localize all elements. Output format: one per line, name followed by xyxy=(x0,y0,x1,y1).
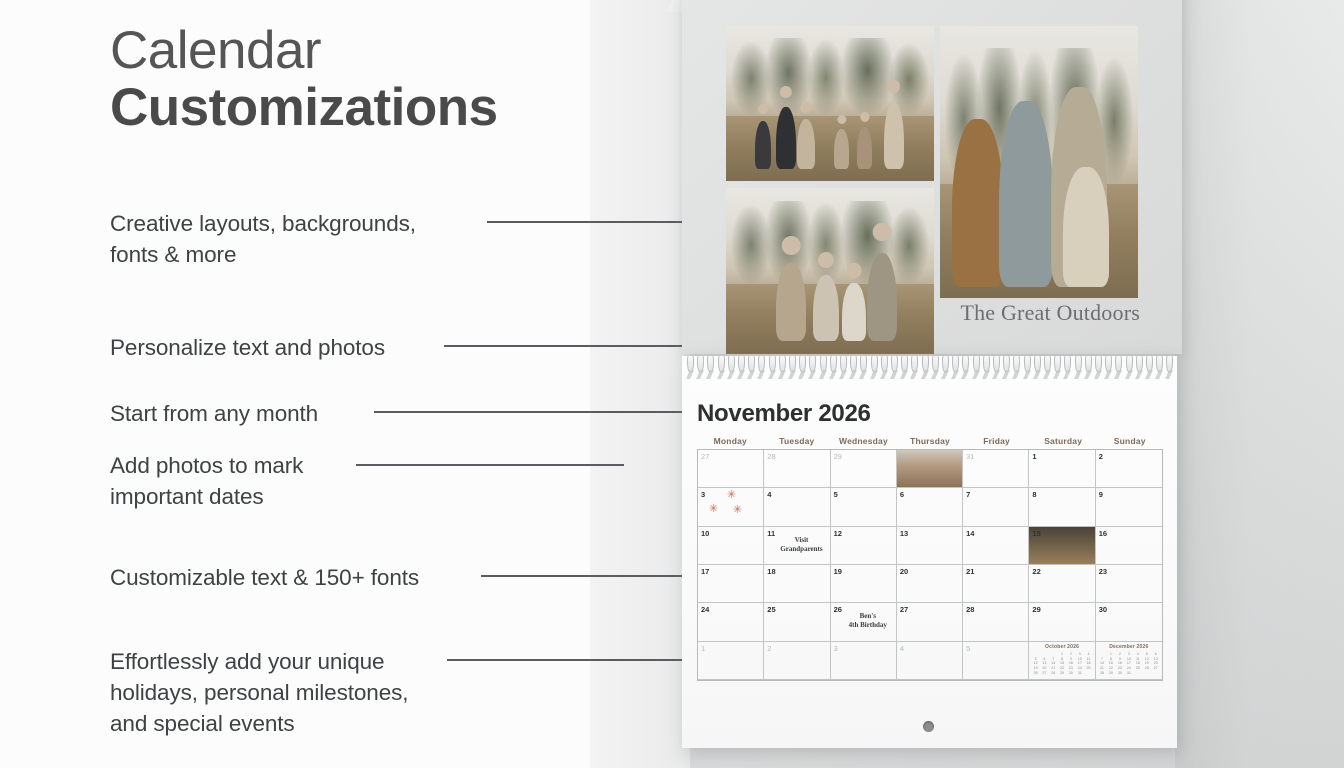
calendar-day-cell[interactable]: 29 xyxy=(1029,603,1095,641)
weekday-label-tuesday: Tuesday xyxy=(764,436,831,446)
calendar-day-cell[interactable]: 8 xyxy=(1029,488,1095,526)
mini-calendar-day: 23 xyxy=(1067,666,1075,670)
calendar-cover-page[interactable]: The Great Outdoors xyxy=(682,0,1182,354)
mini-calendar-day: 2 xyxy=(1116,652,1124,656)
spiral-loop-tail xyxy=(839,370,847,379)
calendar-day-cell[interactable]: 27 xyxy=(897,603,963,641)
spiral-loop-tail xyxy=(1033,370,1041,379)
mini-calendar-day: 31 xyxy=(1125,671,1133,675)
day-number: 1 xyxy=(1032,452,1036,461)
mini-calendar-day xyxy=(1031,652,1039,656)
calendar-day-cell[interactable]: 14 xyxy=(963,527,1029,565)
mini-calendar-day: 22 xyxy=(1058,666,1066,670)
photo-figure xyxy=(999,101,1053,287)
mini-calendar-day: 25 xyxy=(1084,666,1092,670)
mini-calendar-day: 29 xyxy=(1058,671,1066,675)
calendar-day-cell[interactable]: 4 xyxy=(897,642,963,680)
photo-figure xyxy=(776,263,806,341)
feature-item-personalize-text: Personalize text and photos xyxy=(110,332,385,363)
day-number: 25 xyxy=(767,605,775,614)
calendar-day-cell[interactable]: 1 xyxy=(698,642,764,680)
mini-calendar-day: 26 xyxy=(1143,666,1151,670)
mini-calendar-day: 15 xyxy=(1107,661,1115,665)
weekday-label-sunday: Sunday xyxy=(1096,436,1163,446)
feature-item-creative-layouts: Creative layouts, backgrounds, fonts & m… xyxy=(110,208,416,270)
photo-trees xyxy=(726,38,934,128)
mini-calendar-day xyxy=(1049,652,1057,656)
mini-calendar-day: 27 xyxy=(1152,666,1160,670)
mini-calendar-day: 12 xyxy=(1031,661,1039,665)
connector-line-start-any-month xyxy=(374,411,692,413)
photo-figure xyxy=(834,129,849,169)
day-number: 3 xyxy=(701,490,705,499)
photo-figure xyxy=(884,103,904,169)
spiral-loop-tail xyxy=(900,370,908,379)
calendar-day-cell[interactable]: 28 xyxy=(764,450,830,488)
mini-calendar-day: 18 xyxy=(1084,661,1092,665)
calendar-day-cell[interactable]: 27 xyxy=(698,450,764,488)
calendar-day-cell[interactable]: 24 xyxy=(698,603,764,641)
calendar-day-cell[interactable]: 15 xyxy=(1029,527,1095,565)
spiral-loop-tail xyxy=(1002,370,1010,379)
day-number: 24 xyxy=(701,605,709,614)
mini-calendar-day: 5 xyxy=(1031,657,1039,661)
day-number: 4 xyxy=(900,644,904,653)
mini-calendar-day: 20 xyxy=(1040,666,1048,670)
mini-calendar-day: 6 xyxy=(1152,652,1160,656)
mini-calendar-day: 20 xyxy=(1152,661,1160,665)
spiral-loop-tail xyxy=(1053,370,1061,379)
weekday-label-wednesday: Wednesday xyxy=(830,436,897,446)
mini-calendar-day: 17 xyxy=(1076,661,1084,665)
spiral-loop-tail xyxy=(1104,370,1112,379)
day-number: 6 xyxy=(900,490,904,499)
mini-calendar-day: 30 xyxy=(1116,671,1124,675)
mini-calendar-day: 13 xyxy=(1040,661,1048,665)
day-number: 30 xyxy=(900,452,908,461)
mini-calendar-day: 24 xyxy=(1125,666,1133,670)
calendar-day-cell[interactable]: 17 xyxy=(698,565,764,603)
mini-calendar-day xyxy=(1084,671,1092,675)
calendar-day-cell[interactable]: 13 xyxy=(897,527,963,565)
calendar-day-cell[interactable]: 18 xyxy=(764,565,830,603)
calendar-day-grid[interactable]: 2728293031123✳✳✳4567891011Visit Grandpar… xyxy=(697,449,1163,681)
spiral-loop-tail xyxy=(1125,370,1133,379)
spiral-loop-tail xyxy=(951,370,959,379)
day-number: 10 xyxy=(701,529,709,538)
mini-calendar-next: December 2026123456789101112131415161718… xyxy=(1098,643,1160,678)
spiral-loop-tail xyxy=(972,370,980,379)
mini-calendar-day: 8 xyxy=(1058,657,1066,661)
mini-calendar-day xyxy=(1143,671,1151,675)
mini-calendar-day: 12 xyxy=(1143,657,1151,661)
calendar-day-cell[interactable]: October 20261234567891011121314151617181… xyxy=(1029,642,1095,680)
day-number: 29 xyxy=(834,452,842,461)
photo-figure xyxy=(797,119,815,169)
mini-calendar-day: 28 xyxy=(1098,671,1106,675)
calendar-day-cell[interactable]: 30 xyxy=(1096,603,1162,641)
calendar-day-cell[interactable]: 11Visit Grandparents xyxy=(764,527,830,565)
mini-calendar-day xyxy=(1134,671,1142,675)
mini-calendar-day: 7 xyxy=(1098,657,1106,661)
mini-calendar-day: 28 xyxy=(1049,671,1057,675)
mini-calendar-day: 11 xyxy=(1084,657,1092,661)
mini-calendar-day: 1 xyxy=(1058,652,1066,656)
calendar-month-title[interactable]: November 2026 xyxy=(697,400,871,428)
spiral-loop-tail xyxy=(890,370,898,379)
mini-calendar-day: 7 xyxy=(1049,657,1057,661)
mini-calendar-day: 11 xyxy=(1134,657,1142,661)
spiral-loop-tail xyxy=(1084,370,1092,379)
day-number: 31 xyxy=(966,452,974,461)
mini-calendar-day: 2 xyxy=(1067,652,1075,656)
spiral-loop-tail xyxy=(737,370,745,379)
calendar-day-cell[interactable]: 29 xyxy=(831,450,897,488)
mini-calendar-grid: 1234567891011121314151617181920212223242… xyxy=(1031,652,1092,676)
day-number: 1 xyxy=(701,644,705,653)
spiral-loop-tail xyxy=(982,370,990,379)
mini-calendar-day: 21 xyxy=(1049,666,1057,670)
day-number: 2 xyxy=(1099,452,1103,461)
mini-calendar-day: 18 xyxy=(1134,661,1142,665)
mini-calendar-title: December 2026 xyxy=(1098,644,1160,650)
collage-photo-kids-hug[interactable] xyxy=(726,188,934,354)
spiral-loop-tail xyxy=(931,370,939,379)
calendar-day-cell[interactable]: 9 xyxy=(1096,488,1162,526)
spiral-loop-tail xyxy=(1094,370,1102,379)
mini-calendar-day: 19 xyxy=(1143,661,1151,665)
spiral-loop-tail xyxy=(798,370,806,379)
spiral-loop-tail xyxy=(880,370,888,379)
feature-item-add-photos: Add photos to mark important dates xyxy=(110,450,303,512)
day-number: 21 xyxy=(966,567,974,576)
wall-shadow xyxy=(1175,0,1344,768)
spiral-loop-tail xyxy=(778,370,786,379)
feature-item-start-any-month: Start from any month xyxy=(110,398,318,429)
spiral-loop-tail xyxy=(829,370,837,379)
spiral-loop-tail xyxy=(1145,370,1153,379)
mini-calendar-day xyxy=(1040,652,1048,656)
day-number: 18 xyxy=(767,567,775,576)
mini-calendar-day: 13 xyxy=(1152,657,1160,661)
day-number: 8 xyxy=(1032,490,1036,499)
day-number: 28 xyxy=(767,452,775,461)
weekday-label-saturday: Saturday xyxy=(1030,436,1097,446)
calendar-day-cell[interactable]: 23 xyxy=(1096,565,1162,603)
day-number: 27 xyxy=(701,452,709,461)
mini-calendar-day: 21 xyxy=(1098,666,1106,670)
mini-calendar-day: 27 xyxy=(1040,671,1048,675)
day-number: 22 xyxy=(1032,567,1040,576)
mini-calendar-day: 23 xyxy=(1116,666,1124,670)
day-number: 27 xyxy=(900,605,908,614)
hole-punch xyxy=(923,721,934,732)
mini-calendar-day: 3 xyxy=(1125,652,1133,656)
day-event-note[interactable]: Visit Grandparents xyxy=(776,536,827,554)
calendar-day-cell[interactable]: 7 xyxy=(963,488,1029,526)
mini-calendar-day: 9 xyxy=(1116,657,1124,661)
photo-figure xyxy=(755,121,771,169)
spiral-binding xyxy=(683,356,1178,380)
day-number: 12 xyxy=(834,529,842,538)
day-number: 4 xyxy=(767,490,771,499)
mini-calendar-day xyxy=(1098,652,1106,656)
mini-calendar-day: 3 xyxy=(1076,652,1084,656)
mini-calendar-prev: October 20261234567891011121314151617181… xyxy=(1031,643,1092,678)
spiral-loop-tail xyxy=(1135,370,1143,379)
day-number: 16 xyxy=(1099,529,1107,538)
mini-calendar-day: 22 xyxy=(1107,666,1115,670)
calendar-day-cell[interactable]: 6 xyxy=(897,488,963,526)
calendar-day-cell[interactable]: 4 xyxy=(764,488,830,526)
mini-calendar-title: October 2026 xyxy=(1031,644,1092,650)
day-number: 26 xyxy=(834,605,842,614)
mini-calendar-day: 19 xyxy=(1031,666,1039,670)
day-number: 13 xyxy=(900,529,908,538)
mini-calendar-day xyxy=(1152,671,1160,675)
calendar-day-cell[interactable]: 3✳✳✳ xyxy=(698,488,764,526)
page-title: Calendar Customizations xyxy=(110,22,590,136)
collage-photo-four-siblings[interactable] xyxy=(940,26,1138,298)
calendar-day-cell[interactable]: 5 xyxy=(831,488,897,526)
spiral-loop-tail xyxy=(768,370,776,379)
spiral-loop-tail xyxy=(727,370,735,379)
spiral-loop-tail xyxy=(1074,370,1082,379)
connector-line-add-photos xyxy=(356,464,624,466)
mini-calendar-day: 15 xyxy=(1058,661,1066,665)
day-number: 14 xyxy=(966,529,974,538)
spiral-loop-tail xyxy=(992,370,1000,379)
spiral-loop-tail xyxy=(941,370,949,379)
day-number: 17 xyxy=(701,567,709,576)
calendar-day-cell[interactable]: 5 xyxy=(963,642,1029,680)
calendar-day-cell[interactable]: 12 xyxy=(831,527,897,565)
mini-calendar-day: 16 xyxy=(1067,661,1075,665)
weekday-label-friday: Friday xyxy=(963,436,1030,446)
feature-item-unique-holidays: Effortlessly add your unique holidays, p… xyxy=(110,646,408,739)
autumn-leaf-icon: ✳ xyxy=(732,505,743,516)
day-number: 23 xyxy=(1099,567,1107,576)
spiral-loop-tail xyxy=(1155,370,1163,379)
photo-figure xyxy=(776,107,796,169)
calendar-day-cell[interactable]: 28 xyxy=(963,603,1029,641)
calendar-day-cell[interactable]: 20 xyxy=(897,565,963,603)
calendar-day-cell[interactable]: 10 xyxy=(698,527,764,565)
spiral-loop-tail xyxy=(819,370,827,379)
page-title-line1: Calendar xyxy=(110,22,590,79)
day-number: 20 xyxy=(900,567,908,576)
calendar-day-cell[interactable]: 2 xyxy=(764,642,830,680)
photo-figure xyxy=(857,127,872,169)
calendar-day-cell[interactable]: 21 xyxy=(963,565,1029,603)
mini-calendar-day: 4 xyxy=(1084,652,1092,656)
spiral-loop-tail xyxy=(921,370,929,379)
calendar-day-cell[interactable]: 19 xyxy=(831,565,897,603)
day-number: 19 xyxy=(834,567,842,576)
calendar-day-cell[interactable]: 3 xyxy=(831,642,897,680)
feature-item-custom-fonts: Customizable text & 150+ fonts xyxy=(110,562,419,593)
mini-calendar-day: 6 xyxy=(1040,657,1048,661)
mini-calendar-day: 16 xyxy=(1116,661,1124,665)
spiral-loop-tail xyxy=(717,370,725,379)
spiral-loop-tail xyxy=(1023,370,1031,379)
mini-calendar-day: 29 xyxy=(1107,671,1115,675)
mini-calendar-day: 25 xyxy=(1134,666,1142,670)
photo-figure xyxy=(1063,167,1109,287)
mini-calendar-day: 30 xyxy=(1067,671,1075,675)
spiral-loop-tail xyxy=(1043,370,1051,379)
mini-calendar-day: 5 xyxy=(1143,652,1151,656)
page-title-line2: Customizations xyxy=(110,79,590,136)
autumn-leaf-icon: ✳ xyxy=(708,504,719,515)
day-number: 7 xyxy=(966,490,970,499)
photo-figure xyxy=(952,119,1004,287)
calendar-day-cell[interactable]: 22 xyxy=(1029,565,1095,603)
day-number: 30 xyxy=(1099,605,1107,614)
calendar-day-cell[interactable]: 25 xyxy=(764,603,830,641)
calendar-day-cell[interactable]: December 2026123456789101112131415161718… xyxy=(1096,642,1162,680)
calendar-day-cell[interactable]: 16 xyxy=(1096,527,1162,565)
spiral-loop-tail xyxy=(788,370,796,379)
day-number: 5 xyxy=(966,644,970,653)
mini-calendar-day: 4 xyxy=(1134,652,1142,656)
day-number: 28 xyxy=(966,605,974,614)
calendar-day-cell[interactable]: 31 xyxy=(963,450,1029,488)
spiral-loop-tail xyxy=(747,370,755,379)
day-number: 2 xyxy=(767,644,771,653)
spiral-loop-tail xyxy=(686,370,694,379)
mini-calendar-day: 17 xyxy=(1125,661,1133,665)
collage-photo-family-walk[interactable] xyxy=(726,26,934,181)
mini-calendar-day: 26 xyxy=(1031,671,1039,675)
mini-calendar-day: 9 xyxy=(1067,657,1075,661)
mini-calendar-day: 10 xyxy=(1125,657,1133,661)
day-number: 15 xyxy=(1032,529,1040,538)
spiral-loop-tail xyxy=(849,370,857,379)
day-event-note[interactable]: Ben's 4th Birthday xyxy=(842,612,893,630)
day-number: 29 xyxy=(1032,605,1040,614)
mini-calendar-day: 14 xyxy=(1049,661,1057,665)
day-number: 11 xyxy=(767,529,775,538)
mini-calendar-day: 1 xyxy=(1107,652,1115,656)
day-number: 5 xyxy=(834,490,838,499)
background-mid-band xyxy=(590,0,690,768)
mini-calendar-grid: 1234567891011121314151617181920212223242… xyxy=(1098,652,1160,676)
calendar-day-cell[interactable]: 2 xyxy=(1096,450,1162,488)
calendar-day-cell[interactable]: 26Ben's 4th Birthday xyxy=(831,603,897,641)
mini-calendar-day: 10 xyxy=(1076,657,1084,661)
calendar-day-cell[interactable]: 1 xyxy=(1029,450,1095,488)
weekday-label-thursday: Thursday xyxy=(897,436,964,446)
day-number: 3 xyxy=(834,644,838,653)
mini-calendar-day: 24 xyxy=(1076,666,1084,670)
spiral-loop-tail xyxy=(696,370,704,379)
collage-caption-text[interactable]: The Great Outdoors xyxy=(940,300,1140,326)
mini-calendar-day: 31 xyxy=(1076,671,1084,675)
spiral-loop-tail xyxy=(870,370,878,379)
calendar-weekday-header: MondayTuesdayWednesdayThursdayFridaySatu… xyxy=(697,436,1163,446)
mini-calendar-day: 14 xyxy=(1098,661,1106,665)
calendar-day-cell[interactable]: 30 xyxy=(897,450,963,488)
weekday-label-monday: Monday xyxy=(697,436,764,446)
day-number: 9 xyxy=(1099,490,1103,499)
autumn-leaf-icon: ✳ xyxy=(726,490,737,501)
mini-calendar-day: 8 xyxy=(1107,657,1115,661)
